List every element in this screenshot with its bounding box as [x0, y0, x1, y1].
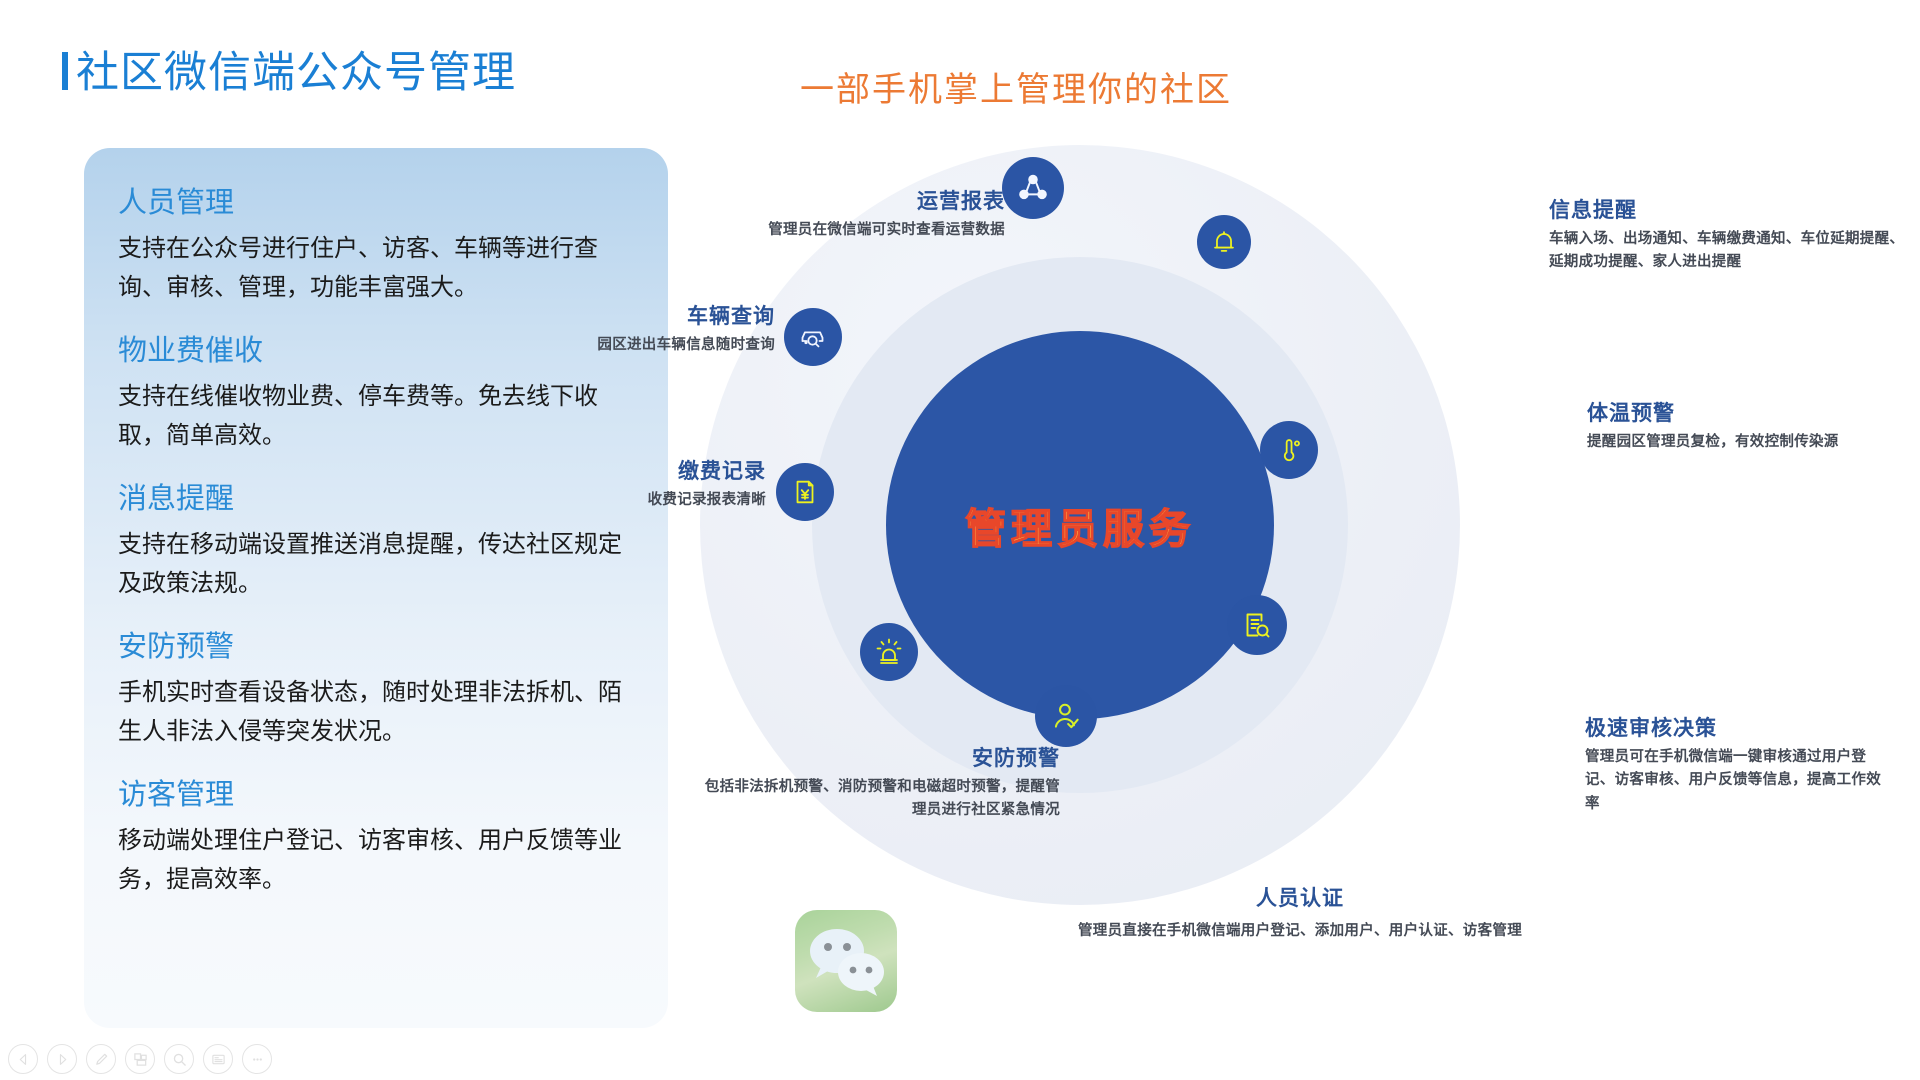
feature-item-personnel: 人员管理 支持在公众号进行住户、访客、车辆等进行查询、审核、管理，功能丰富强大。: [118, 186, 634, 308]
node-icon-security-alert[interactable]: [860, 623, 918, 681]
node-label-vehicle-query: 车辆查询 园区进出车辆信息随时查询: [585, 303, 775, 357]
feature-body: 支持在公众号进行住户、访客、车辆等进行查询、审核、管理，功能丰富强大。: [118, 229, 634, 308]
feature-heading: 消息提醒: [118, 482, 634, 517]
pen-button[interactable]: [86, 1044, 116, 1074]
presenter-view-button[interactable]: [203, 1044, 233, 1074]
node-label-payment-record: 缴费记录 收费记录报表清晰: [580, 458, 766, 512]
node-icon-temperature-alert[interactable]: [1260, 421, 1318, 479]
node-title: 缴费记录: [580, 458, 766, 485]
node-title: 极速审核决策: [1585, 715, 1885, 742]
node-desc: 管理员直接在手机微信端用户登记、添加用户、用户认证、访客管理: [1020, 920, 1580, 943]
feature-item-property-fee: 物业费催收 支持在线催收物业费、停车费等。免去线下收取，简单高效。: [118, 334, 634, 456]
node-desc: 管理员可在手机微信端一键审核通过用户登记、访客审核、用户反馈等信息，提高工作效率: [1585, 746, 1885, 816]
slide-canvas: 社区微信端公众号管理 人员管理 支持在公众号进行住户、访客、车辆等进行查询、审核…: [0, 0, 1920, 1080]
node-title: 安防预警: [700, 745, 1060, 772]
node-icon-operation-report[interactable]: [1002, 157, 1064, 219]
node-desc: 提醒园区管理员复检，有效控制传染源: [1587, 431, 1920, 454]
node-icon-identity-auth[interactable]: [1035, 685, 1097, 747]
wechat-icon: [795, 910, 897, 1012]
node-title: 车辆查询: [585, 303, 775, 330]
document-search-icon: [1241, 609, 1273, 641]
node-title: 体温预警: [1587, 400, 1920, 427]
node-title: 人员认证: [1020, 885, 1580, 912]
more-options-icon: [250, 1052, 265, 1067]
node-label-operation-report: 运营报表 管理员在微信端可实时查看运营数据: [755, 188, 1005, 242]
node-title: 运营报表: [755, 188, 1005, 215]
previous-slide-icon: [17, 1053, 30, 1066]
diagram-title: 一部手机掌上管理你的社区: [800, 62, 1232, 111]
node-label-temperature-alert: 体温预警 提醒园区管理员复检，有效控制传染源: [1587, 400, 1920, 454]
node-icon-fast-approval[interactable]: [1227, 595, 1287, 655]
wechat-logo: [795, 910, 897, 1012]
feature-item-visitor-management: 访客管理 移动端处理住户登记、访客审核、用户反馈等业务，提高效率。: [118, 778, 634, 900]
network-nodes-icon: [1016, 171, 1050, 205]
feature-heading: 访客管理: [118, 778, 634, 813]
feature-item-message-reminder: 消息提醒 支持在移动端设置推送消息提醒，传达社区规定及政策法规。: [118, 482, 634, 604]
grid-view-button[interactable]: [125, 1044, 155, 1074]
feature-heading: 人员管理: [118, 186, 634, 221]
invoice-yuan-icon: [790, 477, 820, 507]
node-label-security-alert: 安防预警 包括非法拆机预警、消防预警和电磁超时预警，提醒管理员进行社区紧急情况: [700, 745, 1060, 823]
presenter-view-icon: [211, 1052, 226, 1067]
page-title-text: 社区微信端公众号管理: [76, 49, 516, 97]
node-icon-info-reminder[interactable]: [1197, 215, 1251, 269]
user-check-icon: [1049, 699, 1083, 733]
node-desc: 收费记录报表清晰: [580, 489, 766, 512]
node-label-fast-approval: 极速审核决策 管理员可在手机微信端一键审核通过用户登记、访客审核、用户反馈等信息…: [1585, 715, 1885, 816]
node-desc: 车辆入场、出场通知、车辆缴费通知、车位延期提醒、延期成功提醒、家人进出提醒: [1549, 228, 1909, 274]
feature-body: 支持在线催收物业费、停车费等。免去线下收取，简单高效。: [118, 377, 634, 456]
feature-item-security-alert: 安防预警 手机实时查看设备状态，随时处理非法拆机、陌生人非法入侵等突发状况。: [118, 630, 634, 752]
next-slide-button[interactable]: [47, 1044, 77, 1074]
car-search-icon: [797, 321, 829, 353]
feature-body: 支持在移动端设置推送消息提醒，传达社区规定及政策法规。: [118, 525, 634, 604]
wheel-core: 管理员服务: [886, 331, 1274, 719]
search-button[interactable]: [164, 1044, 194, 1074]
node-desc: 管理员在微信端可实时查看运营数据: [755, 219, 1005, 242]
node-icon-vehicle-query[interactable]: [784, 308, 842, 366]
node-label-identity-auth: 人员认证 管理员直接在手机微信端用户登记、添加用户、用户认证、访客管理: [1020, 885, 1580, 943]
node-label-info-reminder: 信息提醒 车辆入场、出场通知、车辆缴费通知、车位延期提醒、延期成功提醒、家人进出…: [1549, 197, 1909, 275]
feature-heading: 安防预警: [118, 630, 634, 665]
next-slide-icon: [56, 1053, 69, 1066]
node-desc: 园区进出车辆信息随时查询: [585, 334, 775, 357]
node-desc: 包括非法拆机预警、消防预警和电磁超时预警，提醒管理员进行社区紧急情况: [700, 776, 1060, 822]
previous-slide-button[interactable]: [8, 1044, 38, 1074]
title-accent-bar: [62, 52, 68, 90]
feature-body: 手机实时查看设备状态，随时处理非法拆机、陌生人非法入侵等突发状况。: [118, 673, 634, 752]
thermometer-icon: [1274, 435, 1304, 465]
bell-icon: [1209, 227, 1239, 257]
slide-toolbar: [8, 1044, 272, 1074]
more-options-button[interactable]: [242, 1044, 272, 1074]
node-icon-payment-record[interactable]: [776, 463, 834, 521]
feature-card: 人员管理 支持在公众号进行住户、访客、车辆等进行查询、审核、管理，功能丰富强大。…: [84, 148, 668, 1028]
feature-body: 移动端处理住户登记、访客审核、用户反馈等业务，提高效率。: [118, 821, 634, 900]
node-title: 信息提醒: [1549, 197, 1909, 224]
alarm-light-icon: [873, 636, 905, 668]
search-icon: [172, 1052, 187, 1067]
grid-view-icon: [133, 1052, 148, 1067]
pen-icon: [94, 1052, 109, 1067]
page-title: 社区微信端公众号管理: [62, 38, 516, 100]
wheel-core-label: 管理员服务: [965, 495, 1195, 555]
feature-heading: 物业费催收: [118, 334, 634, 369]
